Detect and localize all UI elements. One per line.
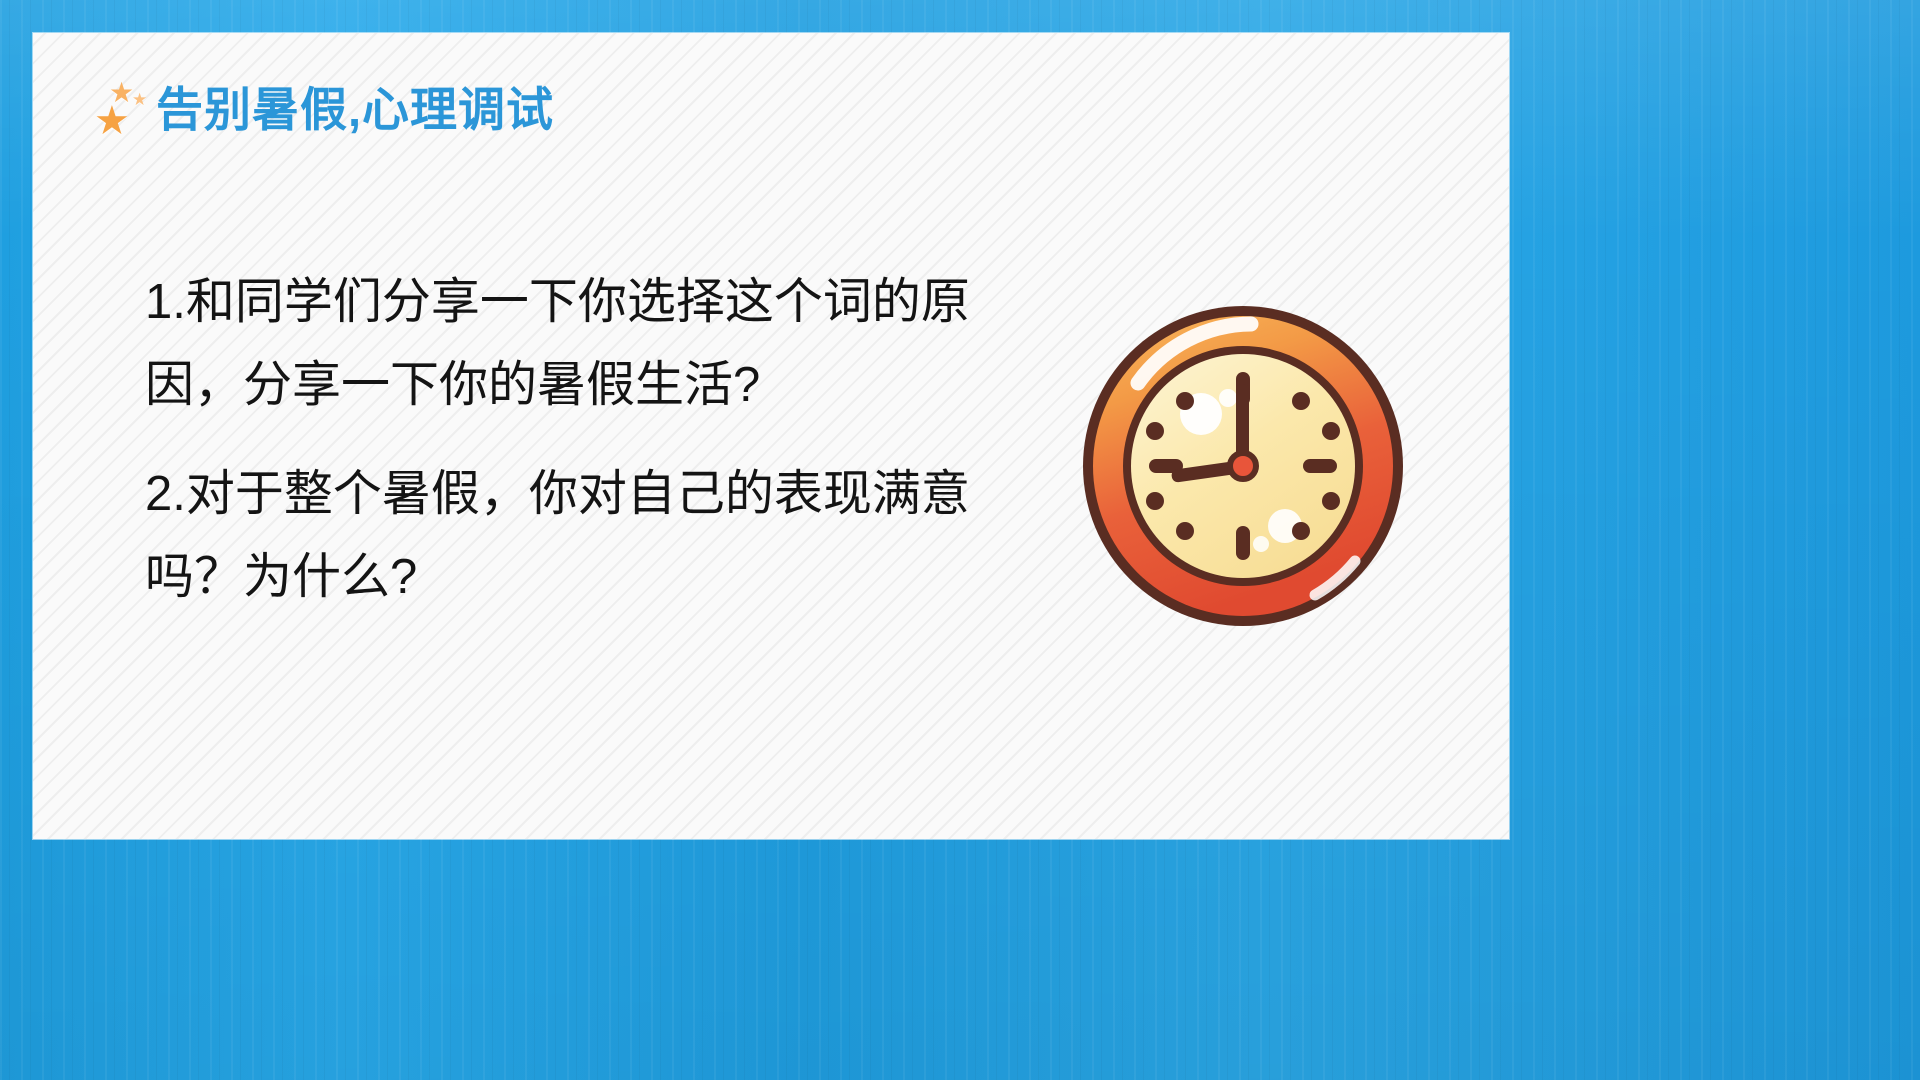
content-card: ★ ★ ★ 告别暑假,心理调试 1.和同学们分享一下你选择这个词的原因，分享一下… <box>33 33 1509 839</box>
alarm-clock-icon <box>1063 288 1423 638</box>
alarm-clock-illustration <box>1063 288 1423 638</box>
page-title: 告别暑假,心理调试 <box>156 86 554 137</box>
star-small-icon: ★ <box>132 91 147 108</box>
question-item-2: 2.对于整个暑假，你对自己的表现满意吗？为什么? <box>145 453 975 619</box>
star-medium-icon: ★ <box>109 79 134 107</box>
question-list: 1.和同学们分享一下你选择这个词的原因，分享一下你的暑假生活? 2.对于整个暑假… <box>145 261 975 619</box>
title-block: ★ ★ ★ 告别暑假,心理调试 <box>88 71 554 137</box>
question-item-1: 1.和同学们分享一下你选择这个词的原因，分享一下你的暑假生活? <box>145 261 975 427</box>
slide-root: ★ ★ ★ 告别暑假,心理调试 1.和同学们分享一下你选择这个词的原因，分享一下… <box>0 0 1920 1080</box>
star-decoration-group: ★ ★ ★ <box>88 75 150 137</box>
